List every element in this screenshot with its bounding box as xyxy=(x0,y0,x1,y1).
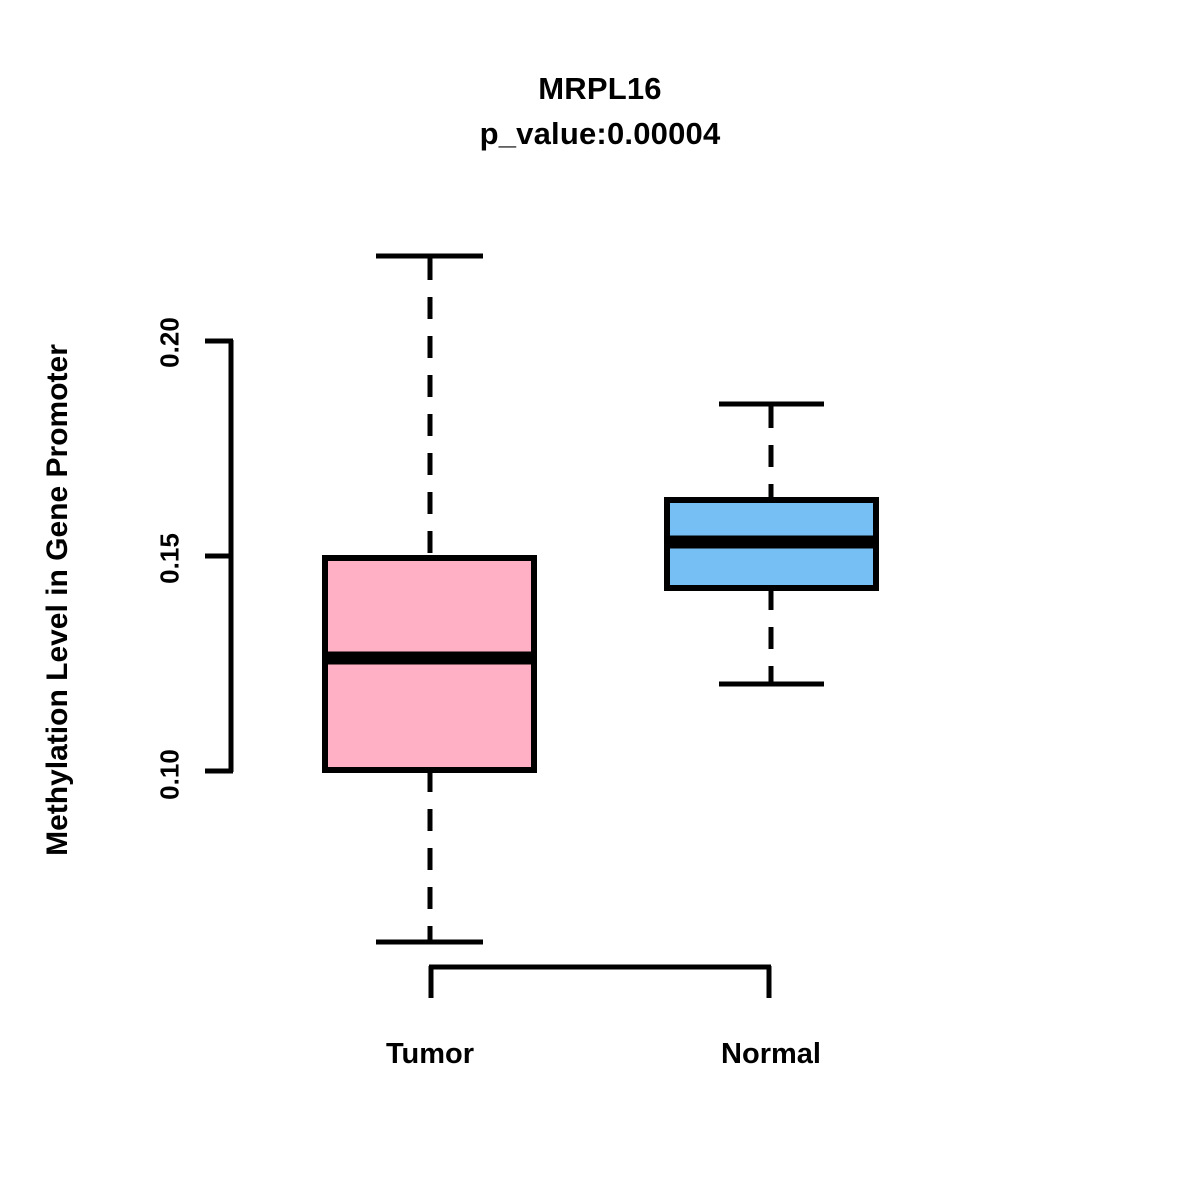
box-normal xyxy=(666,404,877,684)
x-axis xyxy=(429,966,771,998)
y-axis xyxy=(205,340,233,772)
plot-canvas xyxy=(0,0,1200,1200)
boxplot-figure: MRPL16 p_value:0.00004 Methylation Level… xyxy=(0,0,1200,1200)
box-tumor xyxy=(324,256,535,942)
